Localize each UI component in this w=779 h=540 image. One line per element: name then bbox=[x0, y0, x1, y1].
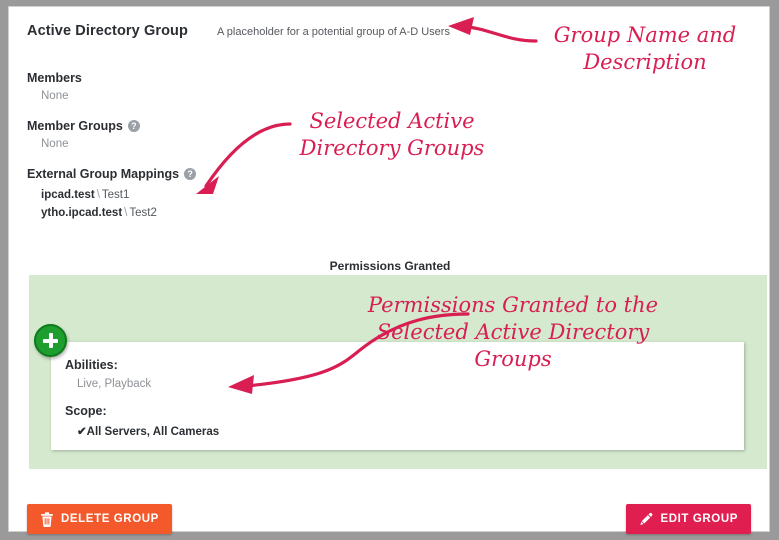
mapping-group: Test1 bbox=[102, 189, 130, 201]
group-description: A placeholder for a potential group of A… bbox=[217, 26, 450, 38]
add-permission-button[interactable] bbox=[34, 324, 67, 357]
trash-icon bbox=[40, 512, 54, 527]
external-group-mappings-label: External Group Mappings? bbox=[27, 167, 196, 181]
annotation-selected-groups: Selected Active Directory Groups bbox=[282, 108, 502, 162]
pencil-icon bbox=[639, 512, 653, 527]
mapping-group: Test2 bbox=[129, 207, 157, 219]
delete-group-button[interactable]: DELETE GROUP bbox=[27, 504, 172, 534]
screenshot-root: Active Directory Group A placeholder for… bbox=[0, 0, 779, 540]
list-item: ytho.ipcad.test\Test2 bbox=[41, 207, 157, 219]
annotation-group-name: Group Name and Description bbox=[530, 22, 760, 76]
group-detail-panel: Active Directory Group A placeholder for… bbox=[8, 6, 770, 532]
scope-value-text: All Servers, All Cameras bbox=[87, 426, 220, 438]
page-title: Active Directory Group bbox=[27, 23, 188, 39]
help-icon[interactable]: ? bbox=[128, 120, 140, 132]
help-icon[interactable]: ? bbox=[184, 168, 196, 180]
abilities-label: Abilities: bbox=[65, 358, 118, 372]
abilities-value: Live, Playback bbox=[77, 378, 151, 390]
external-group-mappings-label-text: External Group Mappings bbox=[27, 167, 179, 181]
permissions-granted-heading: Permissions Granted bbox=[9, 259, 771, 273]
delete-group-label: DELETE GROUP bbox=[61, 513, 159, 525]
mapping-separator: \ bbox=[95, 189, 102, 201]
edit-group-label: EDIT GROUP bbox=[660, 513, 738, 525]
scope-label: Scope: bbox=[65, 404, 107, 418]
annotation-permissions: Permissions Granted to the Selected Acti… bbox=[338, 292, 688, 373]
scope-value: ✔All Servers, All Cameras bbox=[77, 424, 219, 438]
edit-group-button[interactable]: EDIT GROUP bbox=[626, 504, 751, 534]
member-groups-label: Member Groups? bbox=[27, 119, 140, 133]
members-value: None bbox=[41, 90, 69, 102]
mapping-domain: ipcad.test bbox=[41, 189, 95, 201]
check-icon: ✔ bbox=[77, 426, 87, 438]
member-groups-label-text: Member Groups bbox=[27, 119, 123, 133]
members-label-text: Members bbox=[27, 71, 82, 85]
member-groups-value: None bbox=[41, 138, 69, 150]
members-label: Members bbox=[27, 71, 82, 85]
list-item: ipcad.test\Test1 bbox=[41, 189, 129, 201]
mapping-domain: ytho.ipcad.test bbox=[41, 207, 122, 219]
